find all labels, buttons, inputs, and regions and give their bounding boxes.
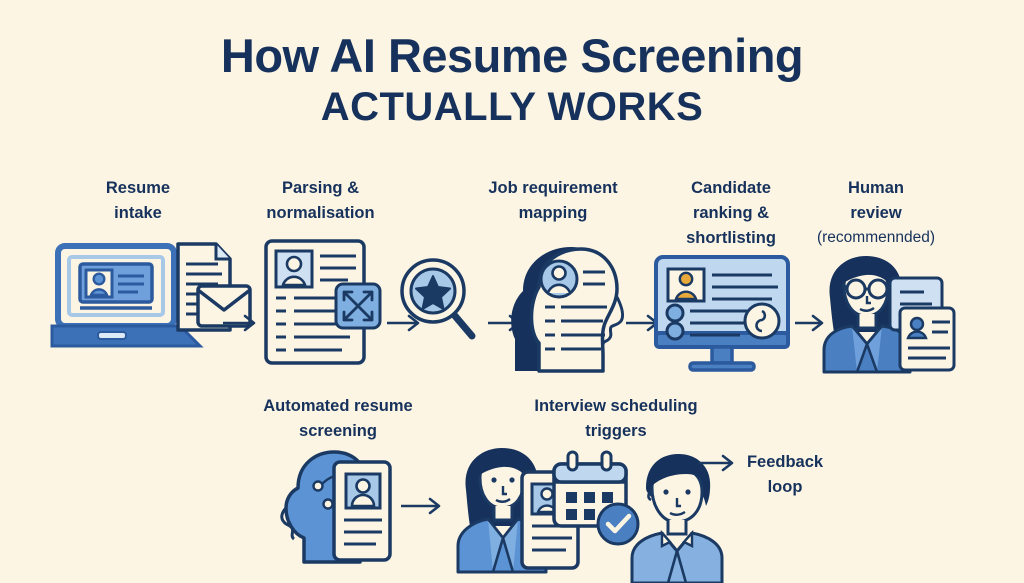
art-job-requirement-mapping (505, 243, 625, 373)
caption-feedback-loop: Feedback loop (730, 450, 840, 500)
caption-mapping-line1: Job requirement (468, 176, 638, 201)
caption-human-review-line2: review (806, 201, 946, 226)
caption-ranking-line2: ranking & (668, 201, 794, 226)
caption-ranking-line1: Candidate (668, 176, 794, 201)
caption-job-requirement-mapping: Job requirement mapping (468, 176, 638, 226)
caption-human-review-note: (recommennded) (806, 226, 946, 249)
resume-card-icon (334, 462, 390, 560)
art-parsing-normalisation (262, 238, 392, 366)
caption-mapping-line2: mapping (468, 201, 638, 226)
resume-card-icon (890, 278, 954, 370)
art-resume-intake (50, 238, 240, 363)
page-title: How AI Resume Screening ACTUALLY WORKS (0, 30, 1024, 130)
caption-interview-line2: triggers (508, 419, 724, 444)
caption-automated-line1: Automated resume (238, 394, 438, 419)
caption-candidate-ranking: Candidate ranking & shortlisting (668, 176, 794, 250)
caption-interview-line1: Interview scheduling (508, 394, 724, 419)
magnifier-star-icon (402, 260, 472, 336)
expand-arrows-icon (336, 284, 380, 328)
caption-resume-intake-line2: intake (78, 201, 198, 226)
caption-parsing-line1: Parsing & (248, 176, 393, 201)
avatar-icon (541, 261, 577, 297)
art-automated-screening (272, 442, 392, 570)
caption-human-review-line1: Human (806, 176, 946, 201)
caption-resume-intake: Resume intake (78, 176, 198, 226)
caption-parsing-normalisation: Parsing & normalisation (248, 176, 393, 226)
caption-resume-intake-line1: Resume (78, 176, 198, 201)
title-line-1: How AI Resume Screening (0, 30, 1024, 82)
art-human-review (812, 250, 952, 372)
title-line-2: ACTUALLY WORKS (0, 84, 1024, 130)
caption-interview-scheduling: Interview scheduling triggers (508, 394, 724, 444)
art-candidate-ranking (652, 253, 792, 373)
caption-ranking-line3: shortlisting (668, 226, 794, 251)
arrow-right-icon-7 (697, 452, 737, 479)
caption-automated-line2: screening (238, 419, 438, 444)
caption-feedback-line2: loop (730, 475, 840, 500)
rank-badge-icon (745, 304, 779, 338)
caption-feedback-line1: Feedback (730, 450, 840, 475)
caption-automated-screening: Automated resume screening (238, 394, 438, 444)
arrow-right-icon-1 (222, 312, 258, 339)
arrow-right-icon-6 (400, 495, 444, 522)
caption-human-review: Human review (recommennded) (806, 176, 946, 249)
art-magnifier (398, 256, 484, 348)
caption-parsing-line2: normalisation (248, 201, 393, 226)
infographic-canvas: How AI Resume Screening ACTUALLY WORKS R… (0, 0, 1024, 583)
